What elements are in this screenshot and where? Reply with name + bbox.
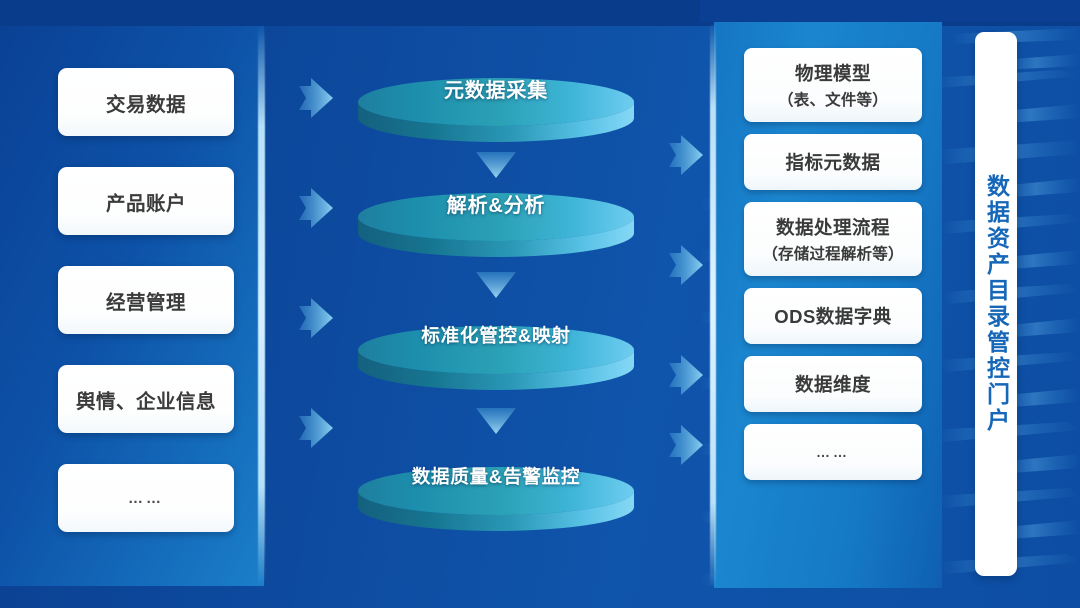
pipeline-disc-label: 数据质量&告警监控 (352, 463, 640, 489)
source-card-label: …… (128, 490, 164, 507)
pipeline-disc-label: 标准化管控&映射 (352, 322, 640, 348)
left-panel-divider-glow (258, 26, 265, 586)
output-card-data-dimension[interactable]: 数据维度 (744, 356, 922, 412)
flow-arrow-right-3 (299, 298, 333, 338)
source-card-label: 交易数据 (106, 88, 186, 117)
flow-arrow-down-3 (476, 408, 516, 434)
source-card-label: 舆情、企业信息 (76, 385, 216, 414)
pipeline-disc-label: 元数据采集 (352, 74, 640, 103)
source-card-label: 经营管理 (106, 286, 186, 315)
source-card-label: 产品账户 (106, 187, 186, 216)
output-card-title: 物理模型 (795, 60, 871, 86)
output-card-metric-metadata[interactable]: 指标元数据 (744, 134, 922, 190)
output-card-title: 数据维度 (795, 371, 871, 397)
output-card-ellipsis[interactable]: …… (744, 424, 922, 480)
output-card-title: …… (816, 444, 850, 460)
pipeline-disc-standardization-mapping[interactable]: 标准化管控&映射 (352, 326, 640, 394)
source-card-transaction-data[interactable]: 交易数据 (58, 68, 234, 136)
pipeline-disc-data-quality-alerting[interactable]: 数据质量&告警监控 (352, 467, 640, 535)
pipeline-disc-metadata-collection[interactable]: 元数据采集 (352, 78, 640, 146)
left-card-column: 交易数据 产品账户 经营管理 舆情、企业信息 …… (58, 68, 234, 563)
flow-arrow-right-4 (299, 408, 333, 448)
output-card-title: 指标元数据 (785, 149, 880, 175)
output-card-subtitle: （表、文件等） (778, 88, 888, 110)
flow-arrow-right-5 (669, 135, 703, 175)
vertical-banner-label: 数据资产目录管控门户 (985, 174, 1008, 434)
output-card-title: ODS数据字典 (774, 303, 892, 329)
flow-arrow-right-1 (299, 78, 333, 118)
source-card-business-management[interactable]: 经营管理 (58, 266, 234, 334)
output-card-data-processing-flow[interactable]: 数据处理流程 （存储过程解析等） (744, 202, 922, 276)
source-card-ellipsis[interactable]: …… (58, 464, 234, 532)
output-card-ods-data-dictionary[interactable]: ODS数据字典 (744, 288, 922, 344)
right-panel-divider-glow (710, 22, 716, 588)
flow-arrow-right-7 (669, 355, 703, 395)
output-card-physical-model[interactable]: 物理模型 （表、文件等） (744, 48, 922, 122)
pipeline-disc-label: 解析&分析 (352, 189, 640, 218)
diagram-canvas: 交易数据 产品账户 经营管理 舆情、企业信息 …… (0, 0, 1080, 608)
flow-arrow-down-2 (476, 272, 516, 298)
flow-arrow-down-1 (476, 152, 516, 178)
pipeline-disc-parse-analyze[interactable]: 解析&分析 (352, 193, 640, 261)
source-card-public-opinion-enterprise-info[interactable]: 舆情、企业信息 (58, 365, 234, 433)
flow-arrow-right-8 (669, 425, 703, 465)
output-card-title: 数据处理流程 (776, 214, 890, 240)
vertical-banner-portal[interactable]: 数据资产目录管控门户 (975, 32, 1017, 576)
flow-arrow-right-6 (669, 245, 703, 285)
flow-arrow-right-2 (299, 188, 333, 228)
center-pipeline-column: 元数据采集 解析&分析 标准化管控&映射 (352, 0, 640, 608)
right-card-column: 物理模型 （表、文件等） 指标元数据 数据处理流程 （存储过程解析等） ODS数… (744, 48, 922, 492)
output-card-subtitle: （存储过程解析等） (762, 242, 903, 264)
source-card-product-account[interactable]: 产品账户 (58, 167, 234, 235)
